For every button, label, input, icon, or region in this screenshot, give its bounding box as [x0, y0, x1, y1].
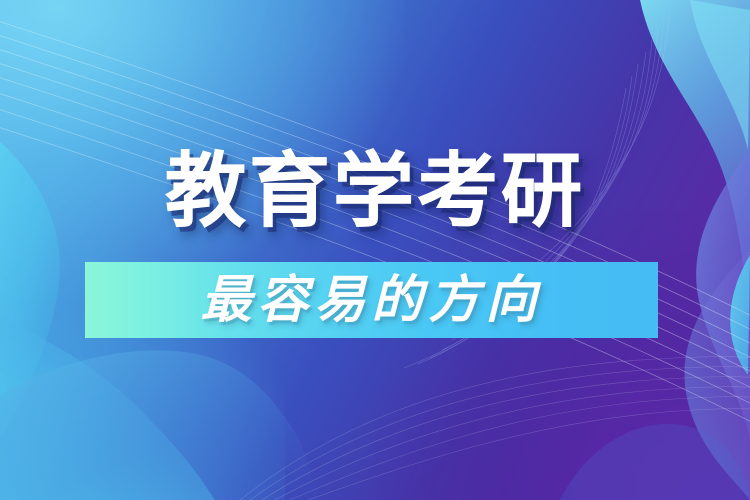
poster-canvas: 教育学考研 最容易的方向: [0, 0, 750, 500]
background-line-pattern: [0, 0, 750, 500]
subtitle-text: 最容易的方向: [200, 274, 542, 325]
subtitle-banner: 最容易的方向: [85, 262, 658, 338]
page-title: 教育学考研: [0, 152, 750, 233]
